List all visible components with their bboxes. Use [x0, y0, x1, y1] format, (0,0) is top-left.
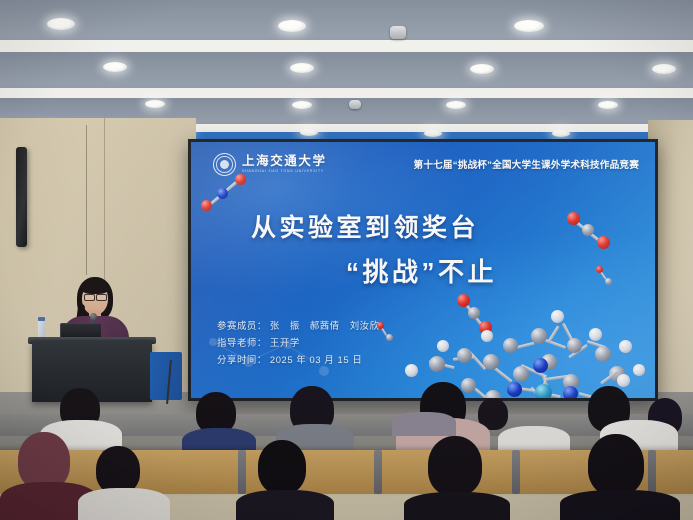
credit-row-date: 分享时间：2025 年 03 月 15 日 — [217, 351, 380, 368]
projection-screen-frame: 上海交通大学 SHANGHAI JIAO TONG UNIVERSITY 第十七… — [188, 139, 658, 401]
recessed-downlight-icon — [652, 64, 676, 74]
wall-speaker-icon — [16, 147, 27, 247]
credit-label-date: 分享时间： — [217, 351, 267, 368]
recessed-downlight-icon — [552, 130, 570, 137]
credit-label-advisor: 指导老师： — [217, 334, 267, 351]
recessed-downlight-icon — [47, 18, 75, 30]
credit-value-members: 张 振 郝茜倩 刘汝欣 — [270, 320, 380, 331]
recessed-downlight-icon — [145, 100, 165, 108]
recessed-downlight-icon — [300, 129, 318, 136]
recessed-downlight-icon — [598, 101, 618, 109]
slide-title-line-2: “挑战”不止 — [346, 252, 497, 289]
recessed-downlight-icon — [514, 20, 544, 32]
university-logo: 上海交通大学 SHANGHAI JIAO TONG UNIVERSITY — [213, 153, 327, 176]
smoke-detector-icon — [390, 26, 406, 39]
credit-label-members: 参赛成员： — [217, 317, 267, 334]
credits-block: 参赛成员：张 振 郝茜倩 刘汝欣 指导老师：王开学 分享时间：2025 年 03… — [217, 317, 380, 368]
recessed-downlight-icon — [292, 101, 312, 109]
university-name-en: SHANGHAI JIAO TONG UNIVERSITY — [242, 170, 327, 174]
sjtu-seal-icon — [213, 153, 236, 176]
contest-banner: 第十七届“挑战杯”全国大学生课外学术科技作品竞赛 — [414, 157, 639, 171]
recessed-downlight-icon — [103, 62, 127, 72]
credit-row-advisor: 指导老师：王开学 — [217, 334, 380, 351]
recessed-downlight-icon — [278, 20, 306, 32]
credit-value-date: 2025 年 03 月 15 日 — [270, 354, 362, 365]
credit-row-members: 参赛成员：张 振 郝茜倩 刘汝欣 — [217, 317, 380, 334]
slide-title-line-1: 从实验室到领奖台 — [251, 208, 479, 244]
lecture-hall-photo: 上海交通大学 SHANGHAI JIAO TONG UNIVERSITY 第十七… — [0, 0, 693, 520]
recessed-downlight-icon — [290, 63, 314, 73]
university-name-cn: 上海交通大学 — [242, 155, 327, 168]
recessed-downlight-icon — [424, 130, 442, 137]
hanging-cable — [86, 125, 87, 275]
recessed-downlight-icon — [470, 64, 494, 74]
recessed-downlight-icon — [446, 101, 466, 109]
smoke-detector-icon — [349, 100, 361, 109]
presentation-slide: 上海交通大学 SHANGHAI JIAO TONG UNIVERSITY 第十七… — [191, 142, 655, 398]
credit-value-advisor: 王开学 — [270, 337, 300, 348]
